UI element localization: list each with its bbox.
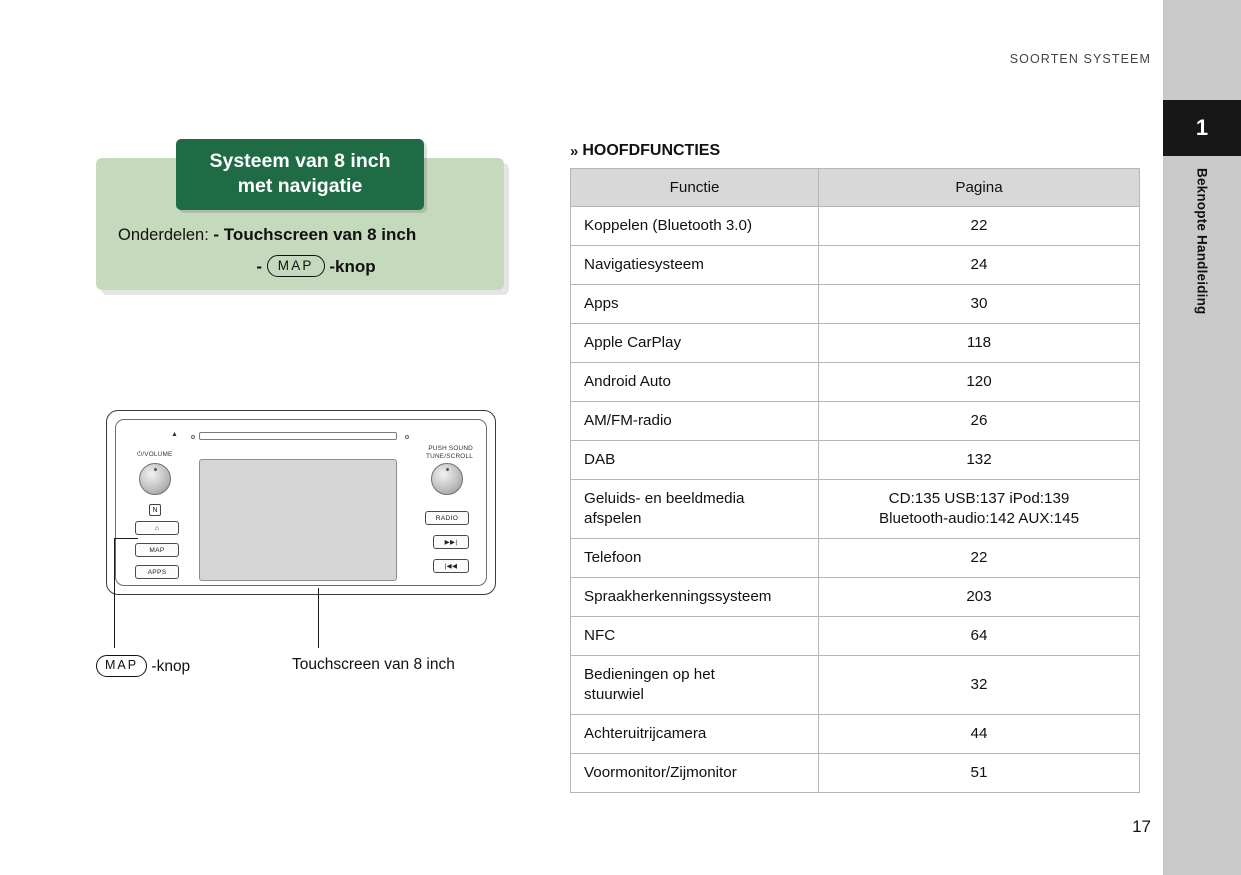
cell-function: NFC: [571, 617, 819, 656]
tune-scroll-sub-label: PUSH SOUND: [428, 445, 473, 452]
table-row: Geluids- en beeldmedia afspelenCD:135 US…: [571, 480, 1140, 539]
cell-function: Bedieningen op het stuurwiel: [571, 656, 819, 715]
power-icon: ⏻: [137, 451, 142, 458]
system-callout-title-line2: met navigatie: [182, 174, 418, 199]
knob-marker-left: [154, 468, 157, 471]
table-row: Achteruitrijcamera44: [571, 715, 1140, 754]
caption-touchscreen: Touchscreen van 8 inch: [292, 656, 455, 674]
system-callout-title-line1: Systeem van 8 inch: [182, 149, 418, 174]
cell-page: CD:135 USB:137 iPod:139 Bluetooth-audio:…: [819, 480, 1140, 539]
caption-map-button: MAP -knop: [96, 655, 190, 677]
system-callout-body: Onderdelen: - Touchscreen van 8 inch - M…: [96, 220, 504, 282]
table-row: Bedieningen op het stuurwiel32: [571, 656, 1140, 715]
head-unit-bezel: ▲ ⏻/VOLUME PUSH SOUND TUNE/SCROLL N ⌂ MA…: [106, 410, 496, 595]
cell-function: Navigatiesysteem: [571, 246, 819, 285]
cell-page: 203: [819, 578, 1140, 617]
volume-text: VOLUME: [144, 451, 172, 458]
main-functions-heading: » HOOFDFUNCTIES: [570, 142, 720, 160]
map-key-chip-caption: MAP: [96, 655, 147, 677]
head-unit-illustration: ▲ ⏻/VOLUME PUSH SOUND TUNE/SCROLL N ⌂ MA…: [96, 400, 516, 690]
main-functions-table: Functie Pagina Koppelen (Bluetooth 3.0)2…: [570, 168, 1140, 793]
cell-function: Voormonitor/Zijmonitor: [571, 754, 819, 793]
leader-line-map-horizontal: [114, 538, 138, 539]
knob-marker-right: [446, 468, 449, 471]
cell-page: 32: [819, 656, 1140, 715]
touchscreen-display[interactable]: [199, 459, 397, 581]
leader-line-map-vertical: [114, 538, 115, 648]
cell-function: Telefoon: [571, 539, 819, 578]
disc-slot: [199, 432, 397, 440]
next-track-button[interactable]: ▶▶|: [433, 535, 469, 549]
cell-function: Apple CarPlay: [571, 324, 819, 363]
volume-label: ⏻/VOLUME: [137, 451, 172, 459]
previous-track-button[interactable]: |◀◀: [433, 559, 469, 573]
cell-page: 44: [819, 715, 1140, 754]
volume-knob[interactable]: [139, 463, 171, 495]
eject-icon: ▲: [171, 431, 178, 438]
running-head: SOORTEN SYSTEEM: [1010, 52, 1151, 66]
column-header-page: Pagina: [819, 169, 1140, 207]
chapter-label-text: Beknopte Handleiding: [1195, 168, 1210, 315]
cell-function: AM/FM-radio: [571, 402, 819, 441]
table-row: Apple CarPlay118: [571, 324, 1140, 363]
callout-parts-label: Onderdelen:: [118, 226, 209, 244]
page-number: 17: [1132, 817, 1151, 837]
table-row: Telefoon22: [571, 539, 1140, 578]
cell-function: Koppelen (Bluetooth 3.0): [571, 207, 819, 246]
tune-scroll-knob[interactable]: [431, 463, 463, 495]
cell-function: Android Auto: [571, 363, 819, 402]
cell-page: 26: [819, 402, 1140, 441]
callout-parts-line-2: - MAP -knop: [96, 252, 504, 282]
radio-button[interactable]: RADIO: [425, 511, 469, 525]
table-row: DAB132: [571, 441, 1140, 480]
system-callout-title: Systeem van 8 inch met navigatie: [176, 139, 424, 210]
cell-page: 30: [819, 285, 1140, 324]
cell-page: 132: [819, 441, 1140, 480]
table-row: Voormonitor/Zijmonitor51: [571, 754, 1140, 793]
cell-page: 64: [819, 617, 1140, 656]
cell-page: 51: [819, 754, 1140, 793]
callout-part-touchscreen: - Touchscreen van 8 inch: [213, 225, 416, 244]
apps-button[interactable]: APPS: [135, 565, 179, 579]
table-row: Spraakherkenningssysteem203: [571, 578, 1140, 617]
leader-line-screen: [318, 588, 319, 648]
table-row: Navigatiesysteem24: [571, 246, 1140, 285]
cell-function: Spraakherkenningssysteem: [571, 578, 819, 617]
table-row: NFC64: [571, 617, 1140, 656]
cell-function: Geluids- en beeldmedia afspelen: [571, 480, 819, 539]
caption-map-suffix: -knop: [151, 658, 190, 675]
system-callout-box: Systeem van 8 inch met navigatie Onderde…: [96, 158, 504, 290]
chapter-number: 1: [1196, 115, 1208, 141]
chapter-number-tab: 1: [1163, 100, 1241, 156]
nfc-icon: N: [149, 504, 161, 516]
tune-scroll-label: TUNE/SCROLL: [426, 453, 473, 460]
cell-page: 118: [819, 324, 1140, 363]
cell-page: 24: [819, 246, 1140, 285]
chapter-label: Beknopte Handleiding: [1163, 168, 1241, 388]
table-row: AM/FM-radio26: [571, 402, 1140, 441]
table-body: Koppelen (Bluetooth 3.0)22 Navigatiesyst…: [571, 207, 1140, 793]
indicator-dot-right: [405, 435, 409, 439]
cell-page: 22: [819, 539, 1140, 578]
table-row: Android Auto120: [571, 363, 1140, 402]
column-header-function: Functie: [571, 169, 819, 207]
callout-dash: -: [256, 257, 262, 276]
indicator-dot-left: [191, 435, 195, 439]
cell-function: Apps: [571, 285, 819, 324]
home-button[interactable]: ⌂: [135, 521, 179, 535]
chevron-right-icon: »: [570, 143, 576, 160]
map-button[interactable]: MAP: [135, 543, 179, 557]
callout-part-map-suffix: -knop: [329, 257, 375, 276]
table-row: Apps30: [571, 285, 1140, 324]
main-functions-heading-text: HOOFDFUNCTIES: [582, 142, 720, 160]
cell-page: 120: [819, 363, 1140, 402]
map-key-chip: MAP: [267, 255, 325, 277]
table-header-row: Functie Pagina: [571, 169, 1140, 207]
cell-function: DAB: [571, 441, 819, 480]
cell-function: Achteruitrijcamera: [571, 715, 819, 754]
callout-parts-line-1: Onderdelen: - Touchscreen van 8 inch: [96, 220, 504, 250]
cell-page: 22: [819, 207, 1140, 246]
table-row: Koppelen (Bluetooth 3.0)22: [571, 207, 1140, 246]
